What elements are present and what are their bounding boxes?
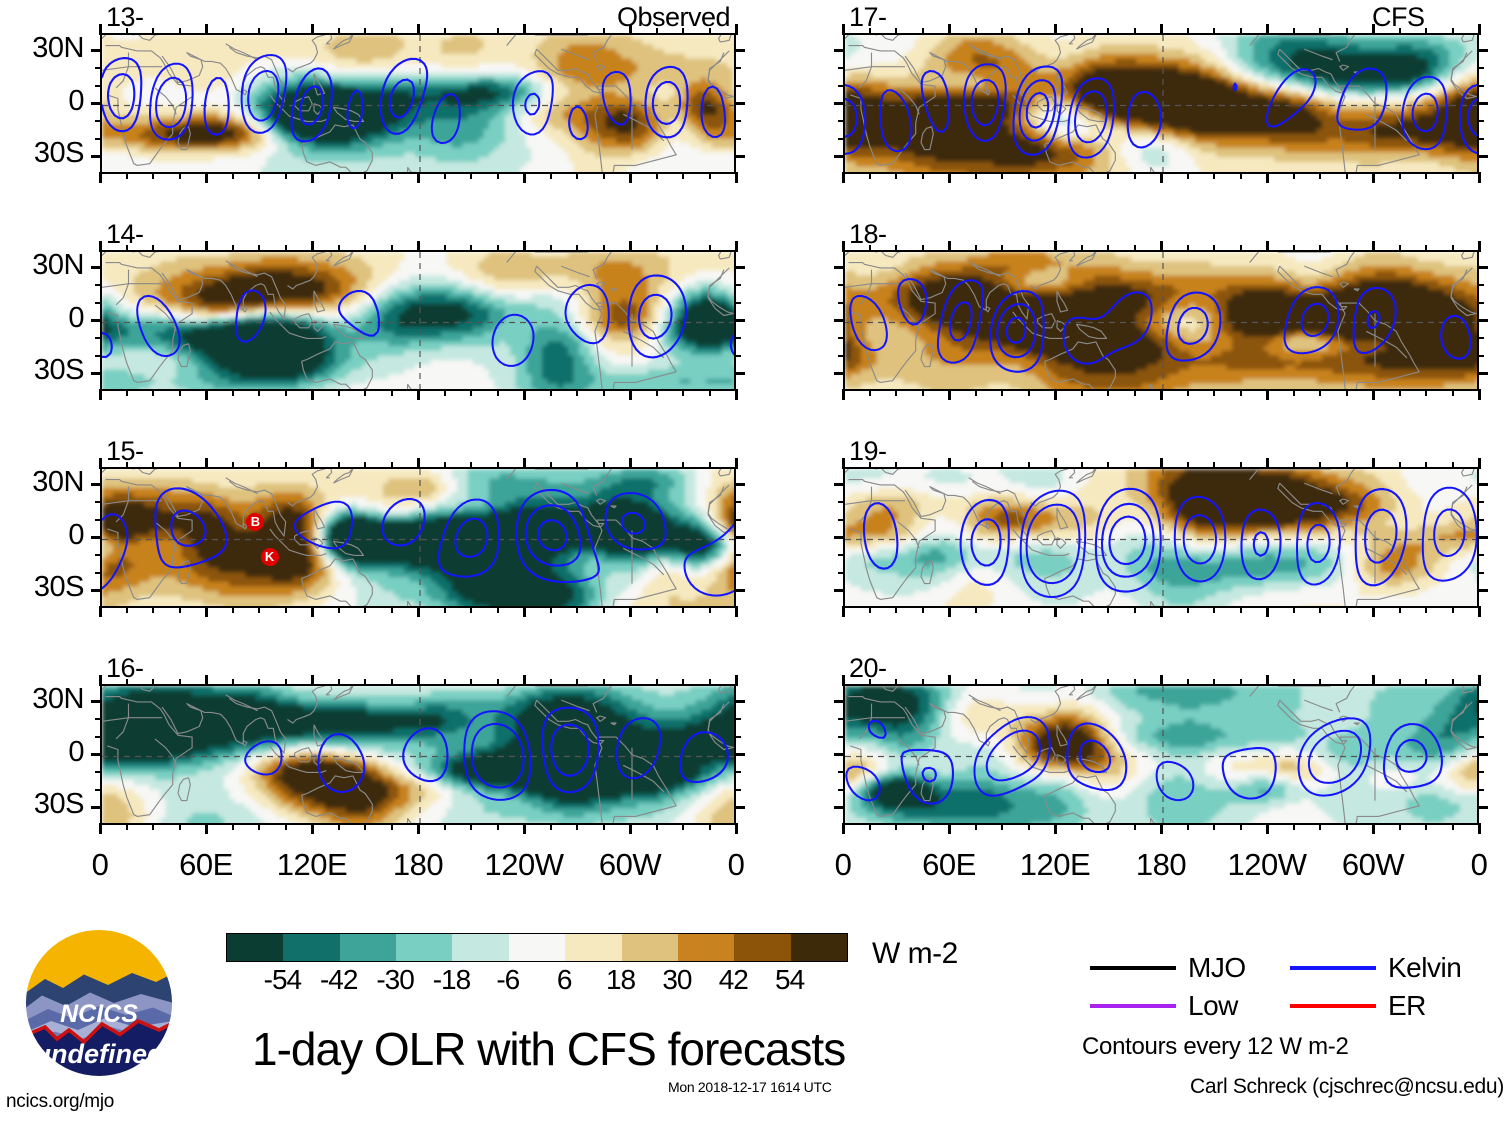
x-minor-tick-top <box>179 245 181 252</box>
y-minor-tick <box>95 736 102 738</box>
x-axis-label: 0 <box>788 847 898 883</box>
x-minor-tick-bottom <box>126 172 128 179</box>
x-major-tick-top <box>629 675 632 686</box>
x-minor-tick-bottom <box>126 606 128 613</box>
x-major-tick-top <box>842 675 845 686</box>
x-minor-tick-top <box>152 245 154 252</box>
y-axis-label: 0 <box>0 736 84 769</box>
x-major-tick-bottom <box>1266 389 1269 400</box>
x-minor-tick-bottom <box>364 172 366 179</box>
x-minor-tick-top <box>1399 462 1401 469</box>
x-minor-tick-bottom <box>470 172 472 179</box>
cyclone-marker-label: B <box>251 514 260 529</box>
x-major-tick-top <box>417 24 420 35</box>
map-20-dec[interactable] <box>843 684 1479 825</box>
x-minor-tick-bottom <box>444 389 446 396</box>
x-major-tick-bottom <box>417 606 420 617</box>
x-minor-tick-bottom <box>1107 606 1109 613</box>
y-minor-tick-right <box>1477 718 1484 720</box>
y-major-tick <box>91 483 102 486</box>
x-minor-tick-bottom <box>709 389 711 396</box>
x-minor-tick-bottom <box>1425 172 1427 179</box>
x-major-tick-top <box>99 24 102 35</box>
x-minor-tick-bottom <box>1001 172 1003 179</box>
x-major-tick-bottom <box>311 606 314 617</box>
x-minor-tick-bottom <box>1001 606 1003 613</box>
y-minor-tick-right <box>734 67 741 69</box>
x-minor-tick-top <box>1107 679 1109 686</box>
x-major-tick-top <box>735 458 738 469</box>
x-minor-tick-bottom <box>1081 172 1083 179</box>
y-minor-tick <box>95 302 102 304</box>
x-minor-tick-top <box>656 245 658 252</box>
y-minor-tick-right <box>734 120 741 122</box>
x-minor-tick-top <box>1081 28 1083 35</box>
y-minor-tick <box>95 120 102 122</box>
x-minor-tick-top <box>895 245 897 252</box>
x-minor-tick-bottom <box>1213 172 1215 179</box>
x-minor-tick-bottom <box>232 606 234 613</box>
y-major-tick-right <box>1477 700 1488 703</box>
x-minor-tick-bottom <box>975 389 977 396</box>
x-minor-tick-top <box>126 28 128 35</box>
x-minor-tick-bottom <box>682 823 684 830</box>
y-major-tick-right <box>734 753 745 756</box>
x-axis-label: 60W <box>1318 847 1428 883</box>
y-minor-tick-right <box>734 501 741 503</box>
x-major-tick-top <box>1372 675 1375 686</box>
x-major-tick-top <box>1054 241 1057 252</box>
y-minor-tick-right <box>1477 67 1484 69</box>
x-minor-tick-top <box>1319 462 1321 469</box>
x-major-tick-bottom <box>948 389 951 400</box>
legend-entry-low: Low <box>1090 990 1238 1022</box>
x-minor-tick-bottom <box>922 389 924 396</box>
x-minor-tick-bottom <box>550 172 552 179</box>
x-minor-tick-top <box>682 462 684 469</box>
x-minor-tick-top <box>497 462 499 469</box>
y-minor-tick-right <box>734 572 741 574</box>
y-minor-tick-right <box>1477 337 1484 339</box>
x-minor-tick-top <box>1452 245 1454 252</box>
x-major-tick-top <box>523 241 526 252</box>
x-minor-tick-bottom <box>895 606 897 613</box>
x-major-tick-bottom <box>99 823 102 834</box>
y-major-tick-right <box>734 589 745 592</box>
x-major-tick-top <box>1372 458 1375 469</box>
colorbar-swatch <box>565 934 621 961</box>
y-minor-tick-right <box>1477 736 1484 738</box>
y-major-tick-right <box>734 49 745 52</box>
x-axis-label: 0 <box>1424 847 1510 883</box>
y-minor-tick <box>95 789 102 791</box>
x-minor-tick-bottom <box>895 172 897 179</box>
x-minor-tick-top <box>682 28 684 35</box>
y-major-tick-right <box>1477 266 1488 269</box>
x-minor-tick-top <box>338 679 340 686</box>
x-minor-tick-bottom <box>1240 389 1242 396</box>
x-axis-label: 120E <box>1000 847 1110 883</box>
x-major-tick-top <box>1160 458 1163 469</box>
colorbar-swatch <box>791 934 847 961</box>
y-minor-tick <box>838 355 845 357</box>
x-major-tick-bottom <box>948 172 951 183</box>
x-major-tick-top <box>205 458 208 469</box>
cyclone-marker-b: B <box>246 513 264 531</box>
x-minor-tick-top <box>869 679 871 686</box>
x-minor-tick-bottom <box>1107 389 1109 396</box>
y-minor-tick <box>95 337 102 339</box>
colorbar-swatch <box>678 934 734 961</box>
x-minor-tick-bottom <box>285 172 287 179</box>
y-minor-tick-right <box>734 302 741 304</box>
x-minor-tick-bottom <box>1028 606 1030 613</box>
x-major-tick-bottom <box>629 172 632 183</box>
x-minor-tick-top <box>550 462 552 469</box>
y-minor-tick <box>95 355 102 357</box>
x-minor-tick-top <box>1028 462 1030 469</box>
x-minor-tick-top <box>126 679 128 686</box>
x-minor-tick-bottom <box>126 389 128 396</box>
x-minor-tick-bottom <box>364 823 366 830</box>
x-major-tick-bottom <box>948 606 951 617</box>
x-major-tick-bottom <box>523 606 526 617</box>
x-minor-tick-bottom <box>1293 606 1295 613</box>
map-16-dec[interactable] <box>100 684 736 825</box>
x-minor-tick-bottom <box>232 389 234 396</box>
x-minor-tick-top <box>550 28 552 35</box>
y-minor-tick-right <box>1477 519 1484 521</box>
y-minor-tick-right <box>1477 138 1484 140</box>
x-major-tick-bottom <box>99 606 102 617</box>
x-minor-tick-top <box>470 28 472 35</box>
x-major-tick-bottom <box>523 823 526 834</box>
y-axis-label: 0 <box>0 302 84 335</box>
x-minor-tick-top <box>1346 28 1348 35</box>
x-major-tick-top <box>629 241 632 252</box>
map-14-dec[interactable] <box>100 250 736 391</box>
y-minor-tick <box>95 67 102 69</box>
x-minor-tick-bottom <box>338 606 340 613</box>
x-minor-tick-top <box>1293 245 1295 252</box>
x-minor-tick-bottom <box>1107 823 1109 830</box>
x-minor-tick-top <box>603 28 605 35</box>
x-major-tick-top <box>311 675 314 686</box>
x-axis-label: 0 <box>681 847 791 883</box>
x-minor-tick-top <box>391 245 393 252</box>
map-19-dec[interactable] <box>843 467 1479 608</box>
y-major-tick-right <box>1477 102 1488 105</box>
x-minor-tick-top <box>126 462 128 469</box>
y-major-tick-right <box>1477 372 1488 375</box>
y-minor-tick <box>95 554 102 556</box>
x-minor-tick-top <box>550 245 552 252</box>
site-url[interactable]: ncics.org/mjo <box>6 1091 114 1113</box>
x-minor-tick-bottom <box>1319 606 1321 613</box>
y-major-tick <box>91 806 102 809</box>
x-major-tick-top <box>842 241 845 252</box>
x-minor-tick-top <box>1107 462 1109 469</box>
x-minor-tick-top <box>709 245 711 252</box>
x-minor-tick-top <box>444 462 446 469</box>
x-minor-tick-top <box>1319 679 1321 686</box>
x-major-tick-bottom <box>1372 606 1375 617</box>
map-15-dec[interactable] <box>100 467 736 608</box>
x-major-tick-top <box>1054 458 1057 469</box>
x-minor-tick-bottom <box>391 823 393 830</box>
y-minor-tick <box>838 771 845 773</box>
y-axis-label: 30S <box>0 788 84 821</box>
x-minor-tick-bottom <box>179 172 181 179</box>
x-minor-tick-bottom <box>603 389 605 396</box>
colorbar-swatch <box>452 934 508 961</box>
y-major-tick <box>834 753 845 756</box>
x-minor-tick-bottom <box>1028 172 1030 179</box>
x-major-tick-bottom <box>735 823 738 834</box>
x-minor-tick-bottom <box>391 389 393 396</box>
x-major-tick-bottom <box>735 606 738 617</box>
x-minor-tick-top <box>470 679 472 686</box>
x-minor-tick-top <box>1346 679 1348 686</box>
y-axis-label: 30N <box>0 466 84 499</box>
x-minor-tick-top <box>1187 679 1189 686</box>
y-minor-tick <box>95 284 102 286</box>
y-major-tick-right <box>1477 483 1488 486</box>
y-minor-tick-right <box>734 519 741 521</box>
x-minor-tick-bottom <box>1213 389 1215 396</box>
x-minor-tick-top <box>869 462 871 469</box>
x-major-tick-top <box>523 458 526 469</box>
colorbar-unit-label: W m-2 <box>872 937 958 971</box>
colorbar-swatch <box>227 934 283 961</box>
x-major-tick-bottom <box>735 389 738 400</box>
x-major-tick-bottom <box>1372 172 1375 183</box>
x-minor-tick-bottom <box>470 823 472 830</box>
legend-entry-kelvin: Kelvin <box>1290 952 1461 984</box>
x-minor-tick-top <box>497 245 499 252</box>
x-minor-tick-bottom <box>1240 823 1242 830</box>
x-major-tick-bottom <box>417 172 420 183</box>
x-minor-tick-top <box>709 679 711 686</box>
y-minor-tick <box>838 554 845 556</box>
x-minor-tick-bottom <box>1240 172 1242 179</box>
y-major-tick <box>834 700 845 703</box>
x-minor-tick-top <box>1213 679 1215 686</box>
y-major-tick <box>834 589 845 592</box>
column-header-observed: Observed <box>617 2 730 33</box>
x-minor-tick-bottom <box>1187 606 1189 613</box>
map-13-dec[interactable] <box>100 33 736 174</box>
x-minor-tick-top <box>179 462 181 469</box>
x-minor-tick-top <box>444 28 446 35</box>
x-major-tick-bottom <box>1266 606 1269 617</box>
x-minor-tick-bottom <box>1319 389 1321 396</box>
y-minor-tick-right <box>734 355 741 357</box>
x-minor-tick-top <box>285 679 287 686</box>
y-minor-tick-right <box>1477 355 1484 357</box>
y-major-tick <box>834 536 845 539</box>
map-17-dec[interactable] <box>843 33 1479 174</box>
x-major-tick-top <box>735 675 738 686</box>
x-minor-tick-top <box>1346 462 1348 469</box>
map-18-dec[interactable] <box>843 250 1479 391</box>
x-major-tick-bottom <box>205 606 208 617</box>
x-minor-tick-top <box>1134 679 1136 686</box>
x-minor-tick-top <box>497 28 499 35</box>
x-minor-tick-top <box>1399 679 1401 686</box>
x-minor-tick-top <box>1028 245 1030 252</box>
y-minor-tick <box>838 67 845 69</box>
x-minor-tick-bottom <box>1134 172 1136 179</box>
y-major-tick <box>834 102 845 105</box>
x-minor-tick-bottom <box>603 823 605 830</box>
colorbar-swatch <box>509 934 565 961</box>
x-minor-tick-bottom <box>497 389 499 396</box>
y-axis-label: 30N <box>0 249 84 282</box>
y-minor-tick <box>95 718 102 720</box>
x-major-tick-top <box>1054 24 1057 35</box>
x-minor-tick-bottom <box>179 606 181 613</box>
x-minor-tick-bottom <box>1319 172 1321 179</box>
x-minor-tick-bottom <box>656 172 658 179</box>
ncics-logo[interactable]: undefined <box>24 928 174 1078</box>
x-minor-tick-bottom <box>975 823 977 830</box>
x-minor-tick-bottom <box>444 606 446 613</box>
x-minor-tick-top <box>603 462 605 469</box>
x-minor-tick-top <box>1293 679 1295 686</box>
x-minor-tick-top <box>656 462 658 469</box>
x-minor-tick-bottom <box>895 823 897 830</box>
x-axis-label: 60W <box>575 847 685 883</box>
x-minor-tick-top <box>1293 28 1295 35</box>
legend-label: Kelvin <box>1388 952 1461 984</box>
y-axis-label: 30S <box>0 354 84 387</box>
colorbar <box>226 933 848 962</box>
x-minor-tick-top <box>975 679 977 686</box>
x-minor-tick-bottom <box>869 172 871 179</box>
legend-line-swatch <box>1090 1004 1176 1008</box>
y-minor-tick-right <box>734 771 741 773</box>
y-major-tick-right <box>734 372 745 375</box>
x-minor-tick-bottom <box>1399 172 1401 179</box>
x-major-tick-bottom <box>311 823 314 834</box>
x-major-tick-top <box>948 675 951 686</box>
y-minor-tick <box>838 138 845 140</box>
y-minor-tick <box>95 85 102 87</box>
y-minor-tick <box>838 718 845 720</box>
x-minor-tick-top <box>152 462 154 469</box>
x-major-tick-bottom <box>205 389 208 400</box>
x-major-tick-top <box>205 241 208 252</box>
x-minor-tick-bottom <box>1081 823 1083 830</box>
x-minor-tick-top <box>1240 462 1242 469</box>
y-major-tick <box>91 372 102 375</box>
x-minor-tick-bottom <box>1399 823 1401 830</box>
y-minor-tick <box>838 519 845 521</box>
x-minor-tick-bottom <box>391 172 393 179</box>
x-minor-tick-top <box>258 28 260 35</box>
y-major-tick-right <box>1477 319 1488 322</box>
x-major-tick-bottom <box>417 823 420 834</box>
x-minor-tick-bottom <box>869 389 871 396</box>
y-minor-tick-right <box>1477 501 1484 503</box>
y-major-tick-right <box>734 155 745 158</box>
x-minor-tick-top <box>1240 245 1242 252</box>
x-major-tick-top <box>311 458 314 469</box>
x-minor-tick-top <box>1319 28 1321 35</box>
y-minor-tick-right <box>1477 789 1484 791</box>
x-minor-tick-bottom <box>285 823 287 830</box>
x-major-tick-top <box>1054 675 1057 686</box>
legend-label: Low <box>1188 990 1238 1022</box>
y-major-tick-right <box>734 806 745 809</box>
x-minor-tick-bottom <box>576 823 578 830</box>
y-minor-tick <box>838 501 845 503</box>
x-minor-tick-top <box>1293 462 1295 469</box>
x-minor-tick-bottom <box>338 172 340 179</box>
x-minor-tick-top <box>922 679 924 686</box>
x-major-tick-bottom <box>99 389 102 400</box>
x-major-tick-bottom <box>629 606 632 617</box>
x-minor-tick-top <box>258 462 260 469</box>
x-minor-tick-bottom <box>1452 823 1454 830</box>
x-minor-tick-top <box>975 245 977 252</box>
x-minor-tick-top <box>497 679 499 686</box>
x-minor-tick-bottom <box>1346 389 1348 396</box>
y-major-tick <box>91 700 102 703</box>
y-major-tick-right <box>1477 536 1488 539</box>
x-minor-tick-bottom <box>869 823 871 830</box>
x-minor-tick-top <box>1001 245 1003 252</box>
x-major-tick-top <box>735 241 738 252</box>
x-minor-tick-top <box>576 462 578 469</box>
x-minor-tick-bottom <box>152 172 154 179</box>
x-major-tick-top <box>99 458 102 469</box>
y-minor-tick <box>95 519 102 521</box>
x-axis-label: 180 <box>1106 847 1216 883</box>
colorbar-tick-label: 54 <box>750 964 830 996</box>
x-minor-tick-top <box>603 245 605 252</box>
legend-line-swatch <box>1290 966 1376 970</box>
colorbar-swatch <box>734 934 790 961</box>
y-major-tick <box>834 806 845 809</box>
x-minor-tick-bottom <box>1213 606 1215 613</box>
x-minor-tick-bottom <box>126 823 128 830</box>
x-minor-tick-bottom <box>1028 823 1030 830</box>
x-minor-tick-top <box>656 28 658 35</box>
y-minor-tick <box>95 138 102 140</box>
x-major-tick-bottom <box>842 172 845 183</box>
x-minor-tick-top <box>1425 462 1427 469</box>
x-major-tick-top <box>523 675 526 686</box>
contour-interval-note: Contours every 12 W m-2 <box>1082 1033 1349 1061</box>
x-axis-label: 120W <box>1212 847 1322 883</box>
x-minor-tick-top <box>338 28 340 35</box>
x-minor-tick-top <box>895 462 897 469</box>
author-contact[interactable]: Carl Schreck (cjschrec@ncsu.edu) <box>1190 1075 1504 1099</box>
cyclone-marker-label: K <box>265 549 274 564</box>
y-minor-tick-right <box>734 284 741 286</box>
x-major-tick-top <box>629 458 632 469</box>
x-minor-tick-bottom <box>1425 823 1427 830</box>
x-minor-tick-bottom <box>656 606 658 613</box>
cyclone-marker-k: K <box>261 548 279 566</box>
x-major-tick-top <box>417 241 420 252</box>
x-minor-tick-bottom <box>258 823 260 830</box>
x-minor-tick-bottom <box>338 823 340 830</box>
x-minor-tick-bottom <box>444 823 446 830</box>
x-minor-tick-top <box>922 28 924 35</box>
